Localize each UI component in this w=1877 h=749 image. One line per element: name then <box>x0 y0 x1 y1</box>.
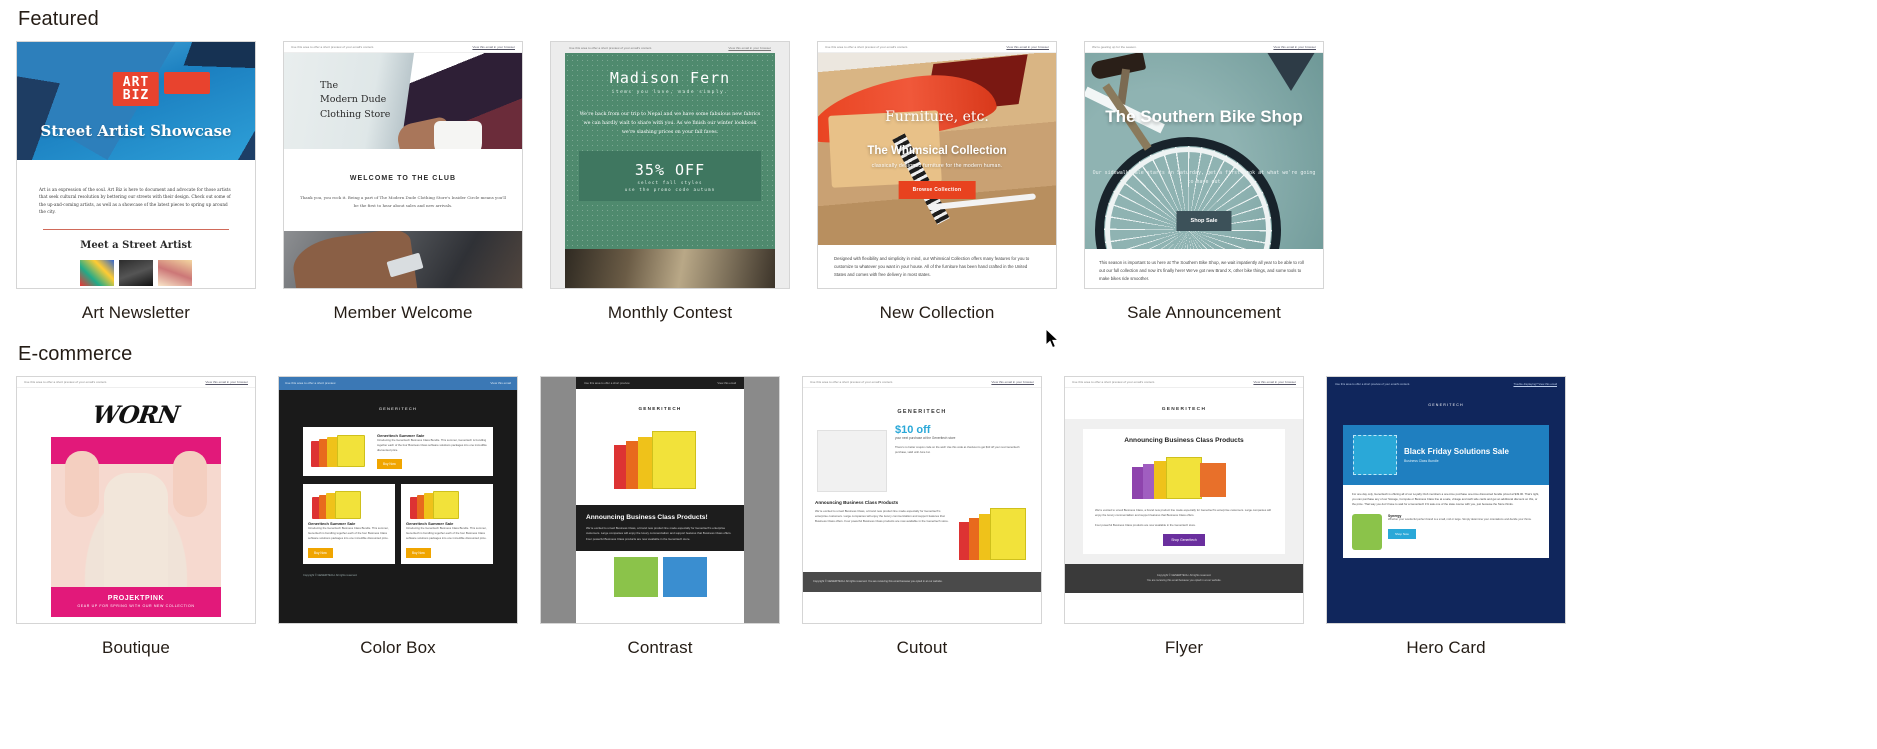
offer-note: There's no better coupon code on the web… <box>895 442 1027 456</box>
brand-name: GENERITECH <box>379 406 417 411</box>
cutout-body-text: We're excited to unveil Business Class, … <box>815 506 953 525</box>
template-label-color-box: Color Box <box>278 624 518 658</box>
art-biz-logo: ARTBIZ <box>113 72 159 106</box>
section-featured: Featured ARTBIZ Street Artist Showcase A… <box>16 0 1861 323</box>
flyer-card: Announcing Business Class Products <box>1083 429 1285 554</box>
herocard-header: Use this area to offer a short preview o… <box>1327 377 1565 391</box>
template-thumbnail-contrast[interactable]: Use this area to offer a short preview V… <box>540 376 780 624</box>
boutique-photo <box>51 437 221 587</box>
furniture-body: Designed with flexibility and simplicity… <box>818 245 1056 279</box>
product-image <box>576 427 744 497</box>
brand-name: GENERITECH <box>1162 407 1206 412</box>
preheader-text: Use this area to offer a short preview o… <box>810 380 893 384</box>
art-subhead: Meet a Street Artist <box>39 240 233 251</box>
herocard-wrap: Use this area to offer a short preview o… <box>1327 377 1565 623</box>
colorbox-footer: Copyright © GENERITECH. All rights reser… <box>279 564 517 588</box>
paintbrush-icon <box>164 72 210 94</box>
offer-percent: 35% OFF <box>579 161 761 179</box>
flyer-headline: Announcing Business Class Products <box>1091 437 1277 444</box>
product-image <box>406 489 488 521</box>
herocard-hero: Black Friday Solutions Sale Business Cla… <box>1343 425 1549 485</box>
template-label-member-welcome: Member Welcome <box>283 289 523 323</box>
contrast-body-text: We're excited to unveil Business Class, … <box>586 526 734 542</box>
flyer-footer: Copyright © GENERITECH. All rights reser… <box>1065 564 1303 593</box>
template-card-art-newsletter[interactable]: ARTBIZ Street Artist Showcase Art is an … <box>16 41 256 323</box>
template-gallery: Featured ARTBIZ Street Artist Showcase A… <box>0 0 1877 749</box>
contrast-brand-row: GENERITECH <box>576 389 744 419</box>
template-thumbnail-color-box[interactable]: Use this area to offer a short preview V… <box>278 376 518 624</box>
view-in-browser-link[interactable]: View this email in your browser <box>1273 45 1316 49</box>
offer-sub-2: use the promo code autumn <box>579 186 761 193</box>
preheader-text: Use this area to offer a short preview o… <box>1335 382 1410 386</box>
colorbox-brand-row: GENERITECH <box>279 390 517 417</box>
monthly-offer-box: 35% OFF select fall styles use the promo… <box>579 151 761 201</box>
cutout-footer: Copyright © GENERITECH. All rights reser… <box>803 572 1041 592</box>
monthly-wrap: Use this area to offer a short preview o… <box>551 42 789 288</box>
template-card-monthly-contest[interactable]: Use this area to offer a short preview o… <box>550 41 790 323</box>
preheader-text: Use this area to offer a short preview o… <box>569 46 652 50</box>
view-in-browser-link[interactable]: View this email in your browser <box>1006 45 1049 49</box>
colorbox-product-row: Generitech Summer Sale Introducing the G… <box>303 484 493 563</box>
furniture-headline: Furniture, etc. <box>818 109 1056 125</box>
section-title-ecommerce: E-commerce <box>16 335 1861 376</box>
template-thumbnail-art-newsletter[interactable]: ARTBIZ Street Artist Showcase Art is an … <box>16 41 256 289</box>
view-in-browser-link[interactable]: View this email in your browser <box>205 380 248 384</box>
email-preheader-bar: Use this area to offer a short preview o… <box>284 42 522 53</box>
view-in-browser-link[interactable]: View this email <box>717 381 736 385</box>
template-label-sale-announcement: Sale Announcement <box>1084 289 1324 323</box>
shop-generitech-button[interactable]: Shop Generitech <box>1163 534 1204 546</box>
view-in-browser-link[interactable]: View this email in your browser <box>472 45 515 49</box>
brand-name: GENERITECH <box>638 406 681 411</box>
furniture-hero-image: Furniture, etc. The Whimsical Collection… <box>818 53 1056 245</box>
monthly-tagline: items you love, made simply. <box>565 87 775 95</box>
template-thumbnail-member-welcome[interactable]: Use this area to offer a short preview o… <box>283 41 523 289</box>
product-card[interactable]: Generitech Summer Sale Introducing the G… <box>303 484 395 563</box>
template-label-new-collection: New Collection <box>817 289 1057 323</box>
template-thumbnail-new-collection[interactable]: Use this area to offer a short preview o… <box>817 41 1057 289</box>
template-label-boutique: Boutique <box>16 624 256 658</box>
view-in-browser-link[interactable]: Trouble displaying? View this email <box>1513 382 1557 386</box>
shop-now-button[interactable]: Shop Now <box>1388 529 1416 539</box>
flyer-body-text-2: Four powerful Business Class products ar… <box>1091 518 1277 528</box>
gift-icon <box>1353 435 1397 475</box>
band-title: PROJEKTPINK <box>51 595 221 602</box>
template-card-contrast[interactable]: Use this area to offer a short preview V… <box>540 376 780 658</box>
product-image <box>1091 450 1277 502</box>
herocard-card: Black Friday Solutions Sale Business Cla… <box>1343 425 1549 558</box>
email-preheader-bar: Use this area to offer a short preview o… <box>818 42 1056 53</box>
herocard-body: For one day only, Generitech is offering… <box>1343 485 1549 514</box>
product-body: Introducing the Generitech Business Clas… <box>406 526 488 540</box>
flag-shape <box>1265 53 1317 91</box>
product-box-icon <box>1352 514 1382 550</box>
cutout-body: Announcing Business Class Products We're… <box>803 492 1041 564</box>
colorbox-header: Use this area to offer a short preview V… <box>279 377 517 390</box>
buy-now-button[interactable]: Buy Now <box>406 548 431 558</box>
view-in-browser-link[interactable]: View this email in your browser <box>728 46 771 50</box>
preheader-text: Use this area to offer a short preview o… <box>825 45 908 49</box>
template-thumbnail-flyer[interactable]: Use this area to offer a short preview o… <box>1064 376 1304 624</box>
right-hand-shape <box>173 451 207 517</box>
product-image <box>308 489 390 521</box>
contrast-header: Use this area to offer a short preview V… <box>576 377 744 389</box>
email-preheader-bar: Use this area to offer a short preview o… <box>17 377 255 388</box>
herocard-headline: Black Friday Solutions Sale <box>1404 447 1509 457</box>
contrast-footer-boxes <box>576 551 744 597</box>
brand-name: TheModern DudeClothing Store <box>320 79 390 122</box>
boutique-footer: Lovely light colors and flattering textu… <box>17 617 255 624</box>
template-card-sale-announcement[interactable]: We're gearing up for the season. View th… <box>1084 41 1324 323</box>
template-label-cutout: Cutout <box>802 624 1042 658</box>
template-thumbnail-cutout[interactable]: Use this area to offer a short preview o… <box>802 376 1042 624</box>
section-ecommerce: E-commerce Use this area to offer a shor… <box>16 335 1861 658</box>
section-body: Whether your wonderful perfect brand is … <box>1388 518 1531 523</box>
template-grid-featured: ARTBIZ Street Artist Showcase Art is an … <box>16 41 1861 323</box>
monthly-photo <box>565 249 775 289</box>
art-body: Art is an expression of the soul. Art Bi… <box>17 160 255 286</box>
contrast-body: Announcing Business Class Products! We'r… <box>576 505 744 551</box>
preheader-text: We're gearing up for the season. <box>1092 45 1137 49</box>
template-label-art-newsletter: Art Newsletter <box>16 289 256 323</box>
monthly-headline: Madison Fern <box>565 53 775 87</box>
boutique-band: PROJEKTPINK GEAR UP FOR SPRING WITH OUR … <box>51 587 221 617</box>
colorbox-wrap: Use this area to offer a short preview V… <box>279 377 517 623</box>
colorbox-feature-card: Generitech Summer Sale Introducing the G… <box>303 427 493 476</box>
shopping-bag-icon <box>817 430 887 492</box>
template-card-member-welcome[interactable]: Use this area to offer a short preview o… <box>283 41 523 323</box>
template-card-cutout[interactable]: Use this area to offer a short preview o… <box>802 376 1042 658</box>
art-hero-image: ARTBIZ Street Artist Showcase <box>17 42 255 160</box>
template-card-color-box[interactable]: Use this area to offer a short preview V… <box>278 376 518 658</box>
member-bottom-image <box>284 231 522 289</box>
flyer-wrap: Use this area to offer a short preview o… <box>1065 377 1303 623</box>
email-preheader-bar: Use this area to offer a short preview o… <box>1065 377 1303 388</box>
preheader-text: Use this area to offer a short preview <box>285 381 336 386</box>
product-card[interactable]: Generitech Summer Sale Introducing the G… <box>401 484 493 563</box>
bike-hero-image: The Southern Bike Shop Our sidewalk sale… <box>1085 53 1323 249</box>
brand-name: GENERITECH <box>1428 403 1464 407</box>
preheader-text: Use this area to offer a short preview o… <box>291 45 374 49</box>
member-body-text: Thank you, you rock it. Being a part of … <box>298 194 508 209</box>
left-hand-shape <box>65 451 99 517</box>
monthly-card: Madison Fern items you love, made simply… <box>565 53 775 249</box>
template-card-new-collection[interactable]: Use this area to offer a short preview o… <box>817 41 1057 323</box>
template-card-boutique[interactable]: Use this area to offer a short preview o… <box>16 376 256 658</box>
member-body: WELCOME TO THE CLUB Thank you, you rock … <box>284 149 522 231</box>
shop-sale-button[interactable]: Shop Sale <box>1176 211 1231 231</box>
email-preheader-bar: We're gearing up for the season. View th… <box>1085 42 1323 53</box>
green-box <box>614 557 658 597</box>
furniture-tagline: classically designed furniture for the m… <box>818 163 1056 169</box>
brand-name: GENERITECH <box>897 409 946 415</box>
preheader-text: Use this area to offer a short preview <box>584 381 630 385</box>
view-in-browser-link[interactable]: View this email in your browser <box>991 380 1034 384</box>
contrast-wrap: Use this area to offer a short preview V… <box>541 377 779 623</box>
offer-sub-1: select fall styles <box>579 179 761 186</box>
template-label-monthly-contest: Monthly Contest <box>550 289 790 323</box>
template-card-flyer[interactable]: Use this area to offer a short preview o… <box>1064 376 1304 658</box>
monthly-body: We're back from our trip to Nepal and we… <box>565 95 775 138</box>
blue-box <box>663 557 707 597</box>
art-headline: Street Artist Showcase <box>17 122 255 140</box>
product-image <box>309 433 371 469</box>
furniture-subhead: The Whimsical Collection <box>818 145 1056 157</box>
buy-now-button[interactable]: Buy Now <box>308 548 333 558</box>
bike-tagline: Our sidewalk sale starts on Saturday, ge… <box>1085 169 1323 186</box>
worn-logo: WORN <box>16 388 256 437</box>
art-body-text: Art is an expression of the soul. Art Bi… <box>39 186 233 215</box>
template-grid-ecommerce: Use this area to offer a short preview o… <box>16 376 1861 658</box>
browse-collection-button[interactable]: Browse Collection <box>899 181 976 199</box>
cutout-header: GENERITECH <box>803 388 1041 424</box>
art-thumbnail-strip <box>39 260 233 286</box>
email-preheader-bar: Use this area to offer a short preview o… <box>803 377 1041 388</box>
flyer-brand-row: GENERITECH <box>1065 388 1303 419</box>
member-hero-image: TheModern DudeClothing Store <box>284 53 522 149</box>
divider <box>43 229 229 230</box>
contrast-headline: Announcing Business Class Products! <box>586 514 734 522</box>
preheader-text: Use this area to offer a short preview o… <box>24 380 107 384</box>
view-in-browser-link[interactable]: View this email <box>490 381 511 386</box>
herocard-section: Synergy Whether your wonderful perfect b… <box>1343 514 1549 558</box>
cup-shape <box>434 121 482 149</box>
template-thumbnail-sale-announcement[interactable]: We're gearing up for the season. View th… <box>1084 41 1324 289</box>
product-body: Introducing the Generitech Business Clas… <box>308 526 390 540</box>
cutout-wrap: Use this area to offer a short preview o… <box>803 377 1041 623</box>
template-thumbnail-monthly-contest[interactable]: Use this area to offer a short preview o… <box>550 41 790 289</box>
herocard-subtitle: Business Class Bundle <box>1404 456 1509 463</box>
template-label-contrast: Contrast <box>540 624 780 658</box>
template-thumbnail-boutique[interactable]: Use this area to offer a short preview o… <box>16 376 256 624</box>
template-label-flyer: Flyer <box>1064 624 1304 658</box>
buy-now-button[interactable]: Buy Now <box>377 459 402 469</box>
flyer-body-text: We're excited to unveil Business Class, … <box>1091 508 1277 518</box>
product-image <box>959 500 1029 564</box>
bike-headline: The Southern Bike Shop <box>1085 107 1323 127</box>
band-subtitle: GEAR UP FOR SPRING WITH OUR NEW COLLECTI… <box>51 602 221 608</box>
template-thumbnail-hero-card[interactable]: Use this area to offer a short preview o… <box>1326 376 1566 624</box>
flyer-body: Announcing Business Class Products <box>1065 419 1303 564</box>
bike-seat-shape <box>1090 53 1147 80</box>
cutout-offer-row: $10 off your next purchase at the Generi… <box>803 424 1041 492</box>
product-body: Introducing the Generitech Business Clas… <box>377 438 487 452</box>
view-in-browser-link[interactable]: View this email in your browser <box>1253 380 1296 384</box>
contrast-inner: Use this area to offer a short preview V… <box>576 377 744 623</box>
herocard-brand-row: GENERITECH <box>1327 391 1565 411</box>
template-card-hero-card[interactable]: Use this area to offer a short preview o… <box>1326 376 1566 658</box>
offer-amount: $10 off <box>895 424 1027 436</box>
member-headline: WELCOME TO THE CLUB <box>298 175 508 182</box>
email-preheader-bar: Use this area to offer a short preview o… <box>565 42 775 53</box>
template-label-hero-card: Hero Card <box>1326 624 1566 658</box>
preheader-text: Use this area to offer a short preview o… <box>1072 380 1155 384</box>
sweater-shape <box>104 473 168 587</box>
section-title-featured: Featured <box>16 0 1861 41</box>
bike-body: This season is important to us here at T… <box>1085 249 1323 283</box>
